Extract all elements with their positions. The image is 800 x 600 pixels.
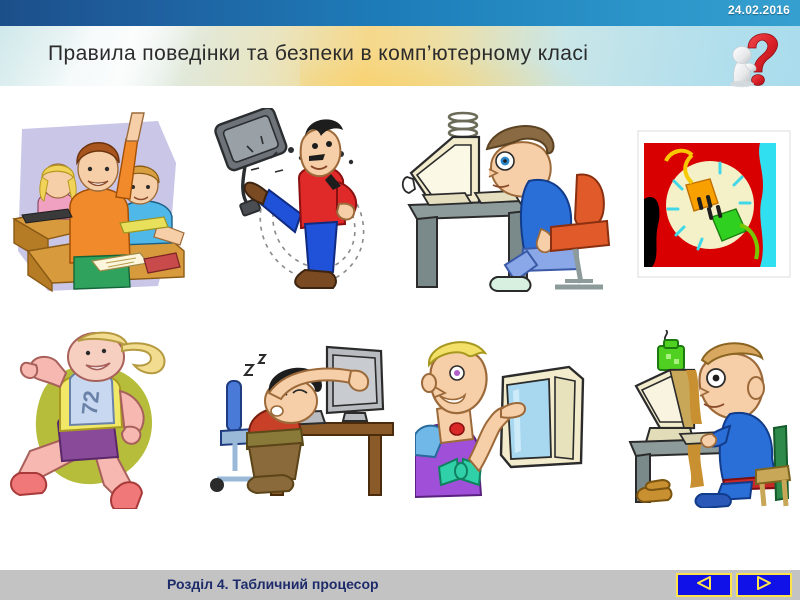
illustration-row-bottom: 72 (0, 326, 800, 516)
section-label: Розділ 4. Табличний процесор (167, 576, 379, 592)
navigation-controls (676, 573, 792, 597)
svg-text:72: 72 (77, 389, 104, 416)
running-girl-illustration: 72 (8, 329, 188, 514)
electrical-plug-danger-illustration (636, 129, 792, 284)
title-banner: Правила поведінки та безпеки в комп’ютер… (0, 26, 800, 86)
footer-bar: Розділ 4. Табличний процесор (0, 570, 800, 600)
students-raising-hand-illustration (8, 111, 188, 301)
triangle-right-icon (754, 575, 774, 596)
drink-on-monitor-illustration (616, 330, 792, 513)
triangle-left-icon (694, 575, 714, 596)
next-slide-button[interactable] (736, 573, 792, 597)
man-kicking-monitor-illustration (205, 108, 385, 305)
slide-content: 72 (0, 86, 800, 570)
prev-slide-button[interactable] (676, 573, 732, 597)
touching-screen-illustration (415, 339, 601, 504)
question-mark-figure-icon (712, 26, 792, 88)
top-bar: 24.02.2016 (0, 0, 800, 26)
bad-posture-at-computer-illustration (401, 109, 619, 304)
slide-date: 24.02.2016 (728, 3, 790, 17)
sleeping-at-computer-illustration (203, 339, 399, 504)
page-title: Правила поведінки та безпеки в комп’ютер… (48, 42, 588, 66)
illustration-row-top (0, 106, 800, 306)
